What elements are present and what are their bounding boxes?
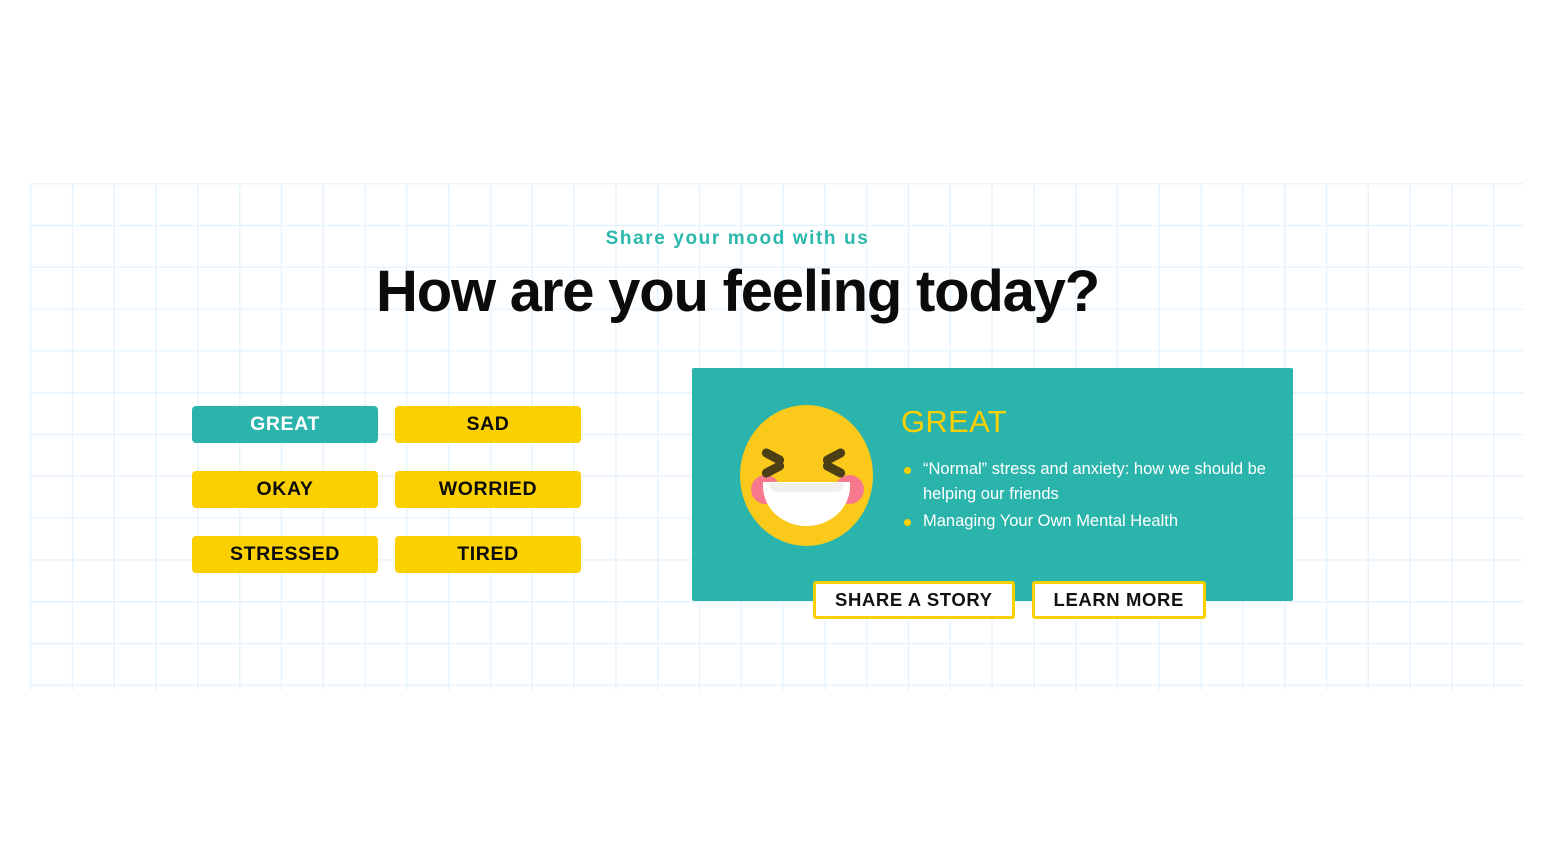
page-header: Share your mood with us How are you feel… — [0, 228, 1475, 325]
list-item[interactable]: “Normal” stress and anxiety: how we shou… — [901, 457, 1273, 507]
emoji-eye-left — [761, 450, 791, 476]
mood-button-sad[interactable]: SAD — [395, 406, 581, 443]
mood-resource-list: “Normal” stress and anxiety: how we shou… — [901, 457, 1273, 534]
page-title: How are you feeling today? — [0, 259, 1475, 326]
mood-card-actions: SHARE A STORY LEARN MORE — [813, 581, 1206, 619]
list-item-label: “Normal” stress and anxiety: how we shou… — [923, 460, 1266, 503]
mood-detail-card: GREAT “Normal” stress and anxiety: how w… — [692, 368, 1293, 601]
bullet-dot-icon — [904, 467, 911, 474]
list-item-label: Managing Your Own Mental Health — [923, 512, 1178, 530]
mood-button-worried[interactable]: WORRIED — [395, 471, 581, 508]
list-item[interactable]: Managing Your Own Mental Health — [901, 509, 1273, 534]
page-eyebrow-text: Share your mood with us — [0, 228, 1475, 251]
mood-card-heading: GREAT — [901, 406, 1273, 437]
mood-button-great[interactable]: GREAT — [192, 406, 378, 443]
laughing-squinting-face-icon — [740, 405, 873, 546]
share-a-story-button[interactable]: SHARE A STORY — [813, 581, 1015, 619]
mood-button-stressed[interactable]: STRESSED — [192, 536, 378, 573]
mood-button-tired[interactable]: TIRED — [395, 536, 581, 573]
mood-button-okay[interactable]: OKAY — [192, 471, 378, 508]
bullet-dot-icon — [904, 519, 911, 526]
learn-more-button[interactable]: LEARN MORE — [1032, 581, 1206, 619]
mood-selector-grid: GREAT SAD OKAY WORRIED STRESSED TIRED — [192, 406, 581, 573]
emoji-eye-right — [818, 450, 848, 476]
mood-card-content: GREAT “Normal” stress and anxiety: how w… — [901, 406, 1273, 536]
